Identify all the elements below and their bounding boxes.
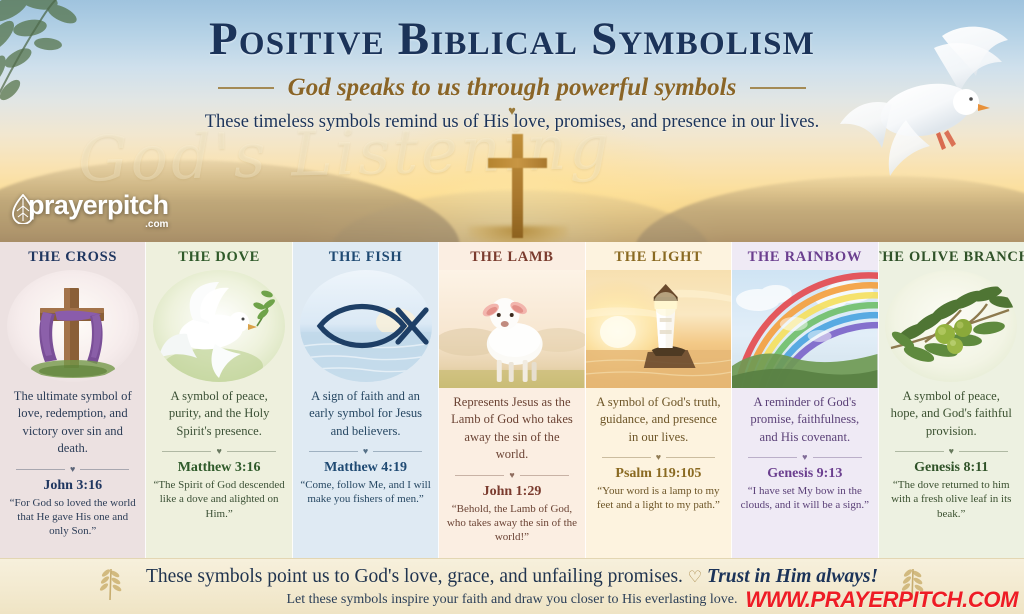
card-title: THE OLIVE BRANCH [879, 249, 1024, 266]
card-description: The ultimate symbol of love, redemption,… [0, 388, 145, 458]
card-divider: ♥ [602, 453, 715, 462]
card-description: A symbol of peace, hope, and God's faith… [879, 388, 1024, 440]
logo-dotcom: .com [145, 220, 168, 230]
fish-artwork [300, 270, 432, 382]
card-description: A symbol of peace, purity, and the Holy … [146, 388, 291, 440]
card-verse-text: “The Spirit of God descended like a dove… [146, 478, 291, 521]
subtitle-rule-right [750, 87, 806, 89]
card-verse-text: “The dove returned to him with a fresh o… [879, 478, 1024, 521]
cross-artwork [7, 270, 139, 382]
card-divider: ♥ [16, 465, 129, 474]
lamb-artwork [439, 270, 584, 388]
card-the-cross[interactable]: THE CROSS [0, 242, 146, 558]
card-divider: ♥ [748, 453, 861, 462]
card-verse-text: “Come, follow Me, and I will make you fi… [293, 478, 438, 507]
card-description: Represents Jesus as the Lamb of God who … [439, 394, 584, 464]
symbol-cards-row: THE CROSS [0, 242, 1024, 558]
card-description: A symbol of God's truth, guidance, and p… [586, 394, 731, 446]
card-the-lamb[interactable]: THE LAMB [439, 242, 585, 558]
card-divider: ♥ [895, 447, 1008, 456]
page-title: Positive Biblical Symbolism [0, 12, 1024, 66]
card-divider: ♥ [455, 471, 568, 480]
card-description: A sign of faith and an early symbol for … [293, 388, 438, 440]
subtitle: God speaks to us through powerful symbol… [288, 74, 737, 102]
card-verse-reference: Matthew 4:19 [324, 460, 407, 476]
footer-headline: These symbols point us to God's love, gr… [0, 566, 1024, 588]
heart-outline-icon: ♡ [688, 569, 702, 586]
lighthouse-artwork [586, 270, 731, 388]
card-title: THE RAINBOW [748, 249, 862, 266]
card-verse-reference: Genesis 9:13 [767, 466, 842, 482]
card-the-fish[interactable]: THE FISH [293, 242, 439, 558]
logo-wordmark: prayerpitch [28, 192, 168, 219]
card-title: THE FISH [329, 249, 403, 266]
card-divider: ♥ [309, 447, 422, 456]
card-the-light[interactable]: THE LIGHT [586, 242, 732, 558]
card-verse-text: “For God so loved the world that He gave… [0, 496, 145, 539]
infographic-poster: God's Listening [0, 0, 1024, 614]
prayerpitch-logo[interactable]: prayerpitch .com [12, 192, 168, 230]
site-watermark: WWW.PRAYERPITCH.COM [745, 587, 1018, 613]
subtitle-rule-left [218, 87, 274, 89]
dove-artwork [153, 270, 285, 382]
card-the-dove[interactable]: THE DOVE [146, 242, 292, 558]
card-verse-reference: Matthew 3:16 [178, 460, 261, 476]
card-title: THE DOVE [178, 249, 260, 266]
card-title: THE LIGHT [614, 249, 702, 266]
card-verse-text: “Behold, the Lamb of God, who takes away… [439, 502, 584, 545]
header-banner: God's Listening [0, 0, 1024, 242]
card-verse-reference: Genesis 8:11 [914, 460, 988, 476]
card-verse-reference: Psalm 119:105 [615, 466, 701, 482]
card-title: THE LAMB [470, 249, 553, 266]
card-divider: ♥ [162, 447, 275, 456]
card-verse-text: “I have set My bow in the clouds, and it… [732, 484, 877, 513]
card-the-rainbow[interactable]: THE RAINBOW [732, 242, 878, 558]
rainbow-artwork [732, 270, 877, 388]
footer-band: These symbols point us to God's love, gr… [0, 558, 1024, 614]
header-tagline: These timeless symbols remind us of His … [0, 112, 1024, 133]
card-verse-text: “Your word is a lamp to my feet and a li… [586, 484, 731, 513]
card-the-olive-branch[interactable]: THE OLIVE BRANCH [879, 242, 1024, 558]
footer-headline-main: These symbols point us to God's love, gr… [146, 566, 683, 587]
subtitle-row: God speaks to us through powerful symbol… [0, 74, 1024, 102]
olive-branch-artwork [885, 270, 1017, 382]
card-title: THE CROSS [28, 249, 117, 266]
card-verse-reference: John 3:16 [43, 478, 102, 494]
card-verse-reference: John 1:29 [483, 484, 542, 500]
card-description: A reminder of God's promise, faithfulnes… [732, 394, 877, 446]
footer-headline-emphasis: Trust in Him always! [707, 566, 878, 587]
